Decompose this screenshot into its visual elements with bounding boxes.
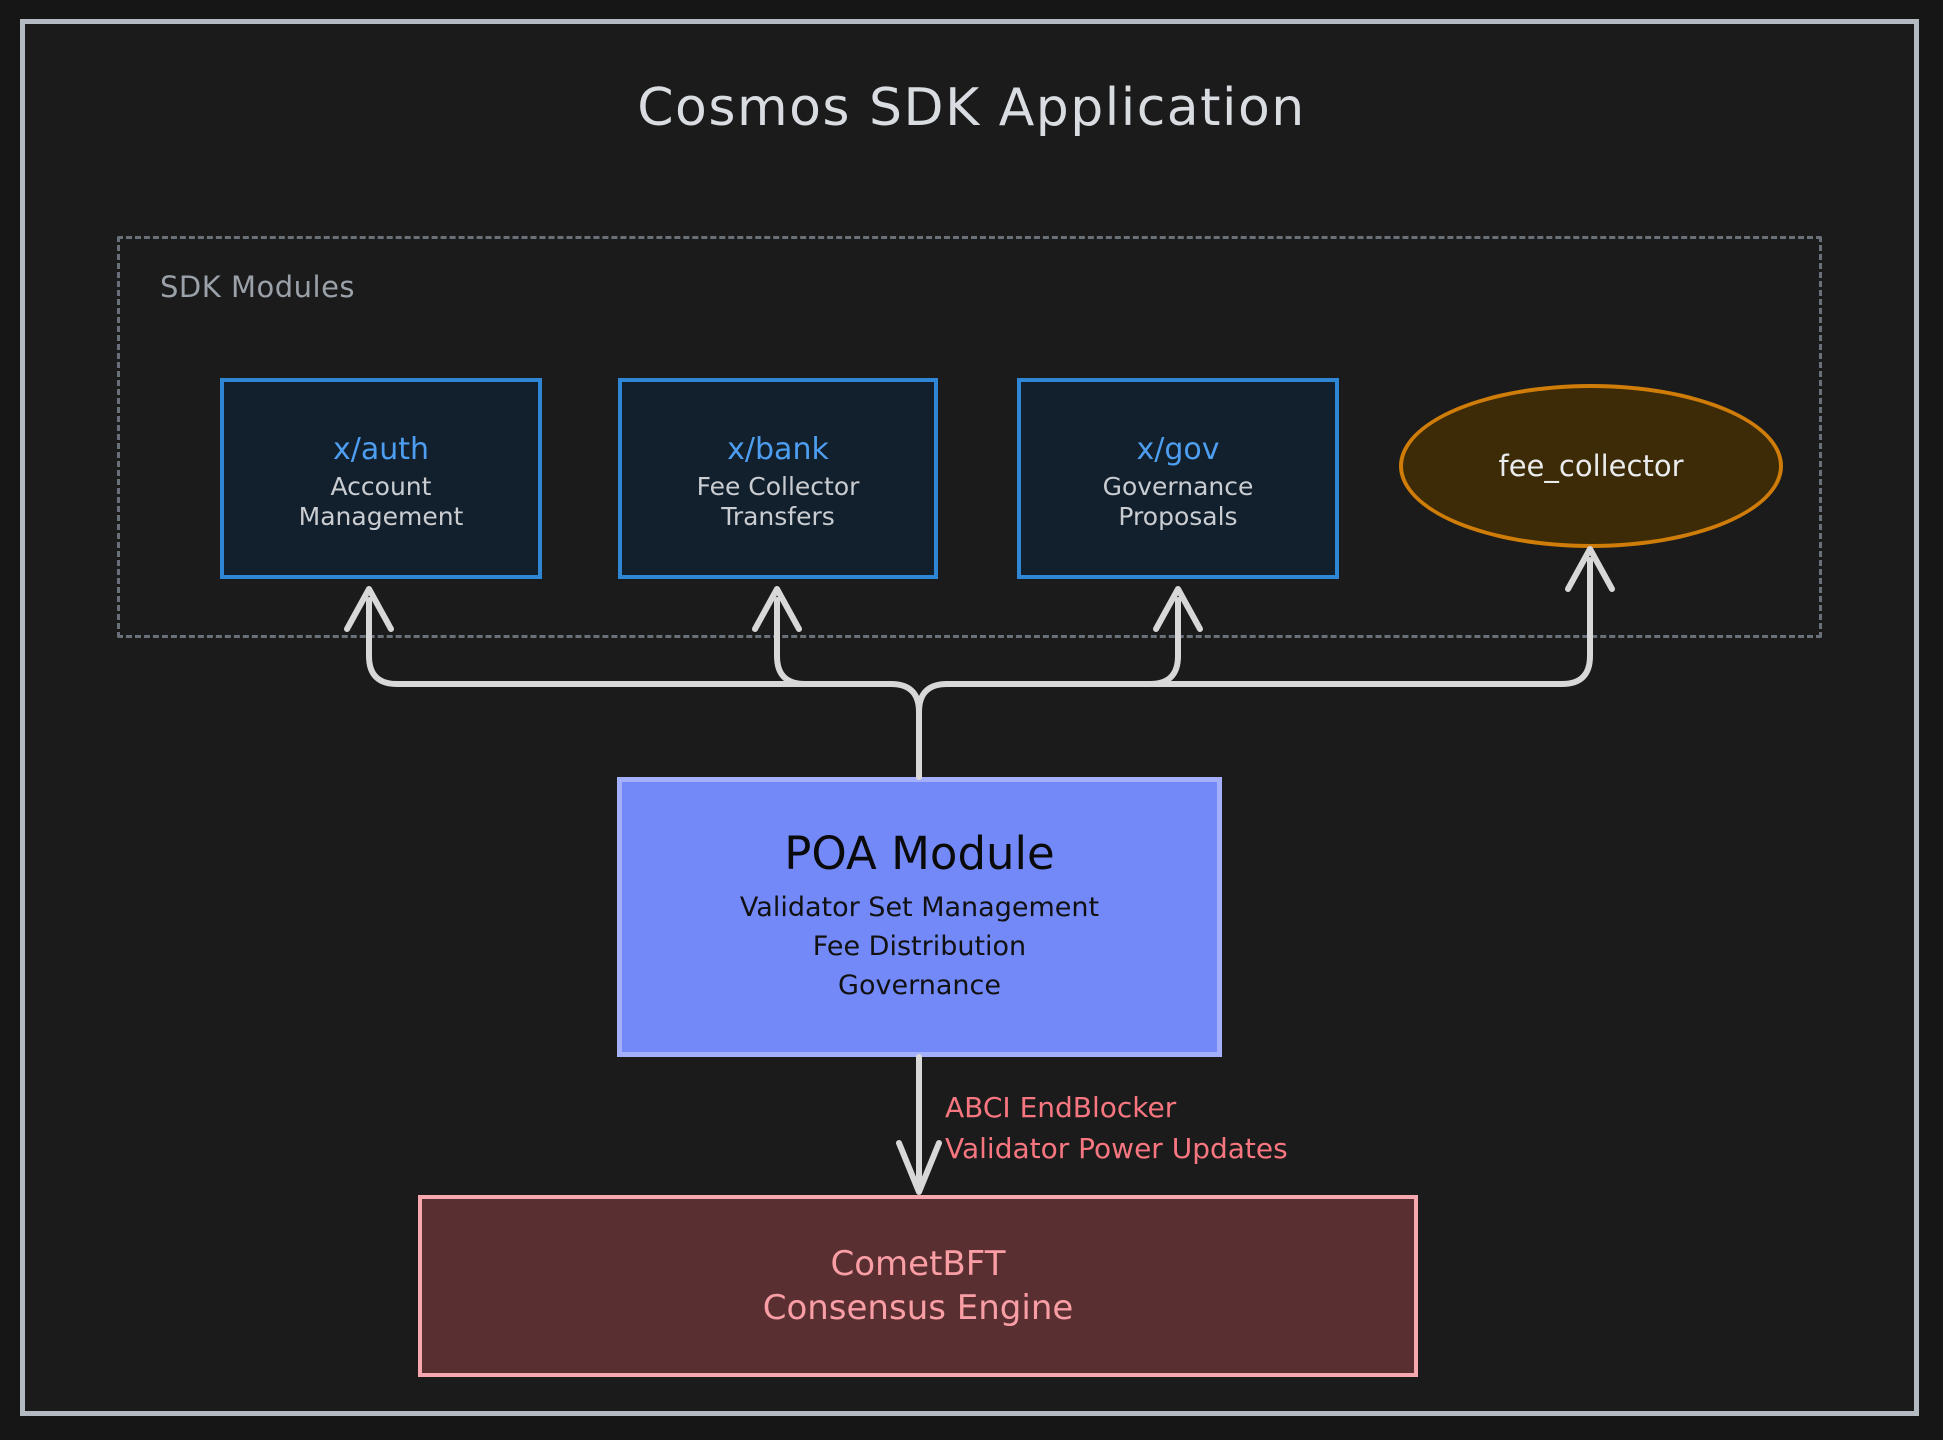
module-box-auth[interactable]: x/auth Account Management	[220, 378, 542, 579]
module-title-gov: x/gov	[1136, 433, 1219, 466]
fee-collector-node[interactable]: fee_collector	[1399, 384, 1783, 548]
edge-label-line-2: Validator Power Updates	[945, 1129, 1288, 1170]
fee-collector-label: fee_collector	[1498, 449, 1683, 483]
module-subtitle-auth-line2: Management	[299, 502, 464, 533]
edge-label-poa-to-cometbft: ABCI EndBlocker Validator Power Updates	[945, 1088, 1288, 1169]
poa-feature-fee-distribution: Fee Distribution	[813, 927, 1026, 966]
page-title: Cosmos SDK Application	[0, 78, 1943, 138]
sdk-modules-label: SDK Modules	[160, 270, 355, 304]
module-title-auth: x/auth	[333, 433, 429, 466]
cometbft-node[interactable]: CometBFT Consensus Engine	[418, 1195, 1418, 1377]
cometbft-subtitle: Consensus Engine	[763, 1286, 1074, 1330]
poa-feature-governance: Governance	[838, 966, 1001, 1005]
module-subtitle-auth-line1: Account	[331, 472, 432, 503]
module-title-bank: x/bank	[727, 433, 829, 466]
module-subtitle-bank-line2: Transfers	[721, 502, 835, 533]
cometbft-title: CometBFT	[831, 1242, 1006, 1286]
poa-module-title: POA Module	[784, 829, 1054, 879]
module-box-bank[interactable]: x/bank Fee Collector Transfers	[618, 378, 938, 579]
diagram-canvas: Cosmos SDK Application SDK Modules x/aut…	[0, 0, 1943, 1440]
module-subtitle-gov-line1: Governance	[1103, 472, 1254, 503]
module-box-gov[interactable]: x/gov Governance Proposals	[1017, 378, 1339, 579]
module-subtitle-gov-line2: Proposals	[1118, 502, 1237, 533]
module-subtitle-bank-line1: Fee Collector	[697, 472, 860, 503]
edge-label-line-1: ABCI EndBlocker	[945, 1088, 1288, 1129]
poa-module-node[interactable]: POA Module Validator Set Management Fee …	[617, 777, 1222, 1057]
poa-feature-validator-set: Validator Set Management	[740, 888, 1099, 927]
